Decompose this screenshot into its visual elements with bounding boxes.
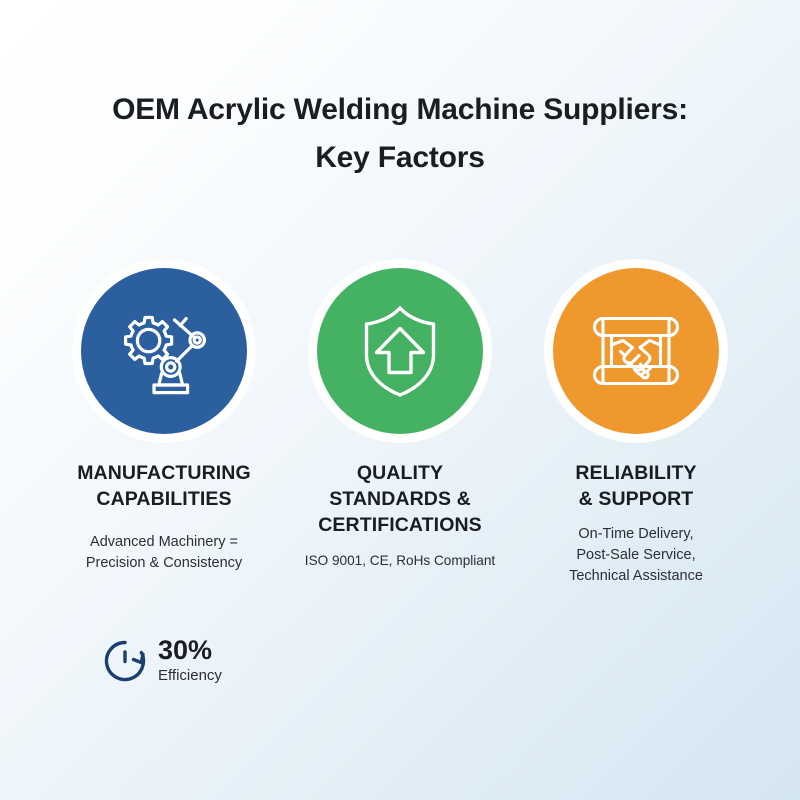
icon-badge-quality	[307, 258, 493, 444]
efficiency-badge-text: 30% Efficiency	[158, 636, 222, 686]
feature-subtext-line-3: Technical Assistance	[569, 566, 703, 587]
feature-heading-line-2: CAPABILITIES	[77, 486, 251, 512]
feature-subtext-line-1: On-Time Delivery,	[569, 524, 703, 545]
feature-column-manufacturing: MANUFACTURING CAPABILITIES Advanced Mach…	[44, 258, 284, 574]
efficiency-value: 30%	[158, 636, 222, 664]
feature-subtext-line-2: Post-Sale Service,	[569, 545, 703, 566]
icon-badge-reliability	[543, 258, 729, 444]
feature-heading-line-2: STANDARDS &	[318, 486, 482, 512]
circular-arrow-clock-icon	[100, 636, 150, 686]
page-title: OEM Acrylic Welding Machine Suppliers: K…	[0, 86, 800, 182]
feature-column-quality: QUALITY STANDARDS & CERTIFICATIONS ISO 9…	[280, 258, 520, 571]
icon-circle-orange	[553, 268, 719, 434]
feature-heading-line-1: QUALITY	[318, 460, 482, 486]
gear-robot-arm-icon	[112, 299, 216, 403]
feature-heading-line-1: MANUFACTURING	[77, 460, 251, 486]
feature-column-reliability: RELIABILITY & SUPPORT On-Time Delivery, …	[516, 258, 756, 587]
feature-subtext-reliability: On-Time Delivery, Post-Sale Service, Tec…	[569, 524, 703, 587]
feature-heading-manufacturing: MANUFACTURING CAPABILITIES	[77, 460, 251, 512]
icon-badge-manufacturing	[71, 258, 257, 444]
feature-subtext-manufacturing: Advanced Machinery = Precision & Consist…	[86, 532, 242, 574]
icon-circle-blue	[81, 268, 247, 434]
feature-heading-line-3: CERTIFICATIONS	[318, 512, 482, 538]
page-title-line-1: OEM Acrylic Welding Machine Suppliers:	[0, 86, 800, 134]
feature-columns: MANUFACTURING CAPABILITIES Advanced Mach…	[0, 258, 800, 587]
icon-circle-green	[317, 268, 483, 434]
feature-heading-reliability: RELIABILITY & SUPPORT	[575, 460, 696, 512]
shield-up-arrow-icon	[352, 301, 448, 401]
feature-heading-quality: QUALITY STANDARDS & CERTIFICATIONS	[318, 460, 482, 538]
feature-subtext-line-1: Advanced Machinery =	[86, 532, 242, 553]
efficiency-badge: 30% Efficiency	[100, 636, 222, 686]
feature-subtext-quality: ISO 9001, CE, RoHs Compliant	[305, 550, 495, 571]
feature-heading-line-1: RELIABILITY	[575, 460, 696, 486]
page-title-line-2: Key Factors	[0, 134, 800, 182]
feature-subtext-line-1: ISO 9001, CE, RoHs Compliant	[305, 550, 495, 571]
infographic-canvas: OEM Acrylic Welding Machine Suppliers: K…	[0, 0, 800, 800]
efficiency-label: Efficiency	[158, 666, 222, 686]
feature-heading-line-2: & SUPPORT	[575, 486, 696, 512]
feature-subtext-line-2: Precision & Consistency	[86, 553, 242, 574]
handshake-contract-icon	[585, 300, 687, 402]
